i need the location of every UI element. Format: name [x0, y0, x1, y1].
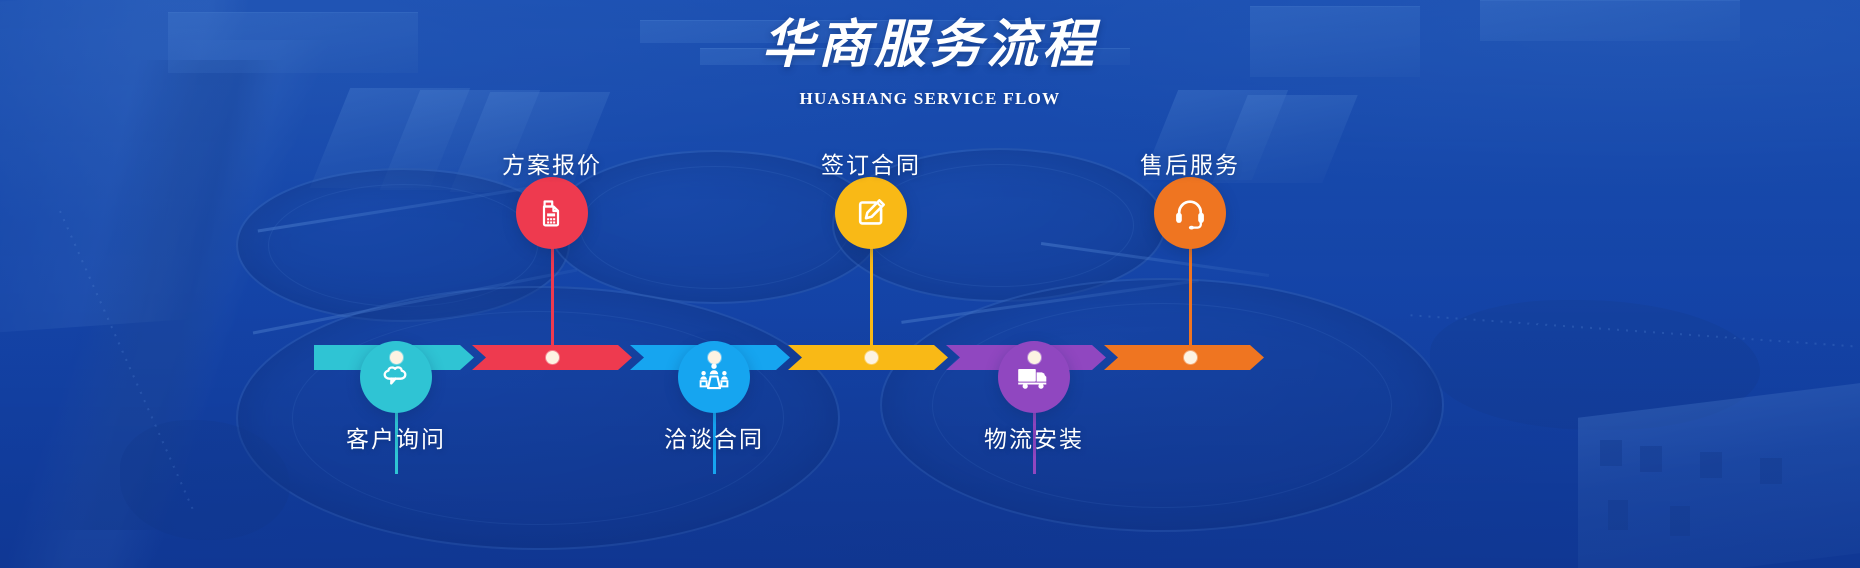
flow-step-label-1: 客户询问 — [346, 420, 446, 454]
page-title: 华商服务流程 — [0, 16, 1860, 75]
flow-node-dot-2[interactable] — [546, 351, 559, 364]
banner-headings: 华商服务流程 HUASHANG SERVICE FLOW — [0, 16, 1860, 109]
flow-node-dot-5[interactable] — [1028, 351, 1041, 364]
flow-node-dot-3[interactable] — [708, 351, 721, 364]
calculator-invoice-icon[interactable] — [516, 177, 588, 249]
flow-step-label-3: 洽谈合同 — [664, 420, 764, 454]
flow-step-label-6: 售后服务 — [1140, 146, 1240, 180]
flow-connector-line-6 — [1189, 248, 1192, 355]
flow-step-label-4: 签订合同 — [821, 146, 921, 180]
page-subtitle: HUASHANG SERVICE FLOW — [0, 89, 1860, 109]
pen-sign-icon[interactable] — [835, 177, 907, 249]
flow-step-label-5: 物流安装 — [984, 420, 1084, 454]
service-flow-banner: 华商服务流程 HUASHANG SERVICE FLOW 客户询问方案报价洽谈合… — [0, 0, 1860, 568]
flow-connector-line-2 — [551, 248, 554, 355]
flow-connector-line-4 — [870, 248, 873, 355]
flow-node-dot-1[interactable] — [390, 351, 403, 364]
flow-step-label-2: 方案报价 — [502, 146, 602, 180]
headset-support-icon[interactable] — [1154, 177, 1226, 249]
flow-node-dot-6[interactable] — [1184, 351, 1197, 364]
flow-node-dot-4[interactable] — [865, 351, 878, 364]
